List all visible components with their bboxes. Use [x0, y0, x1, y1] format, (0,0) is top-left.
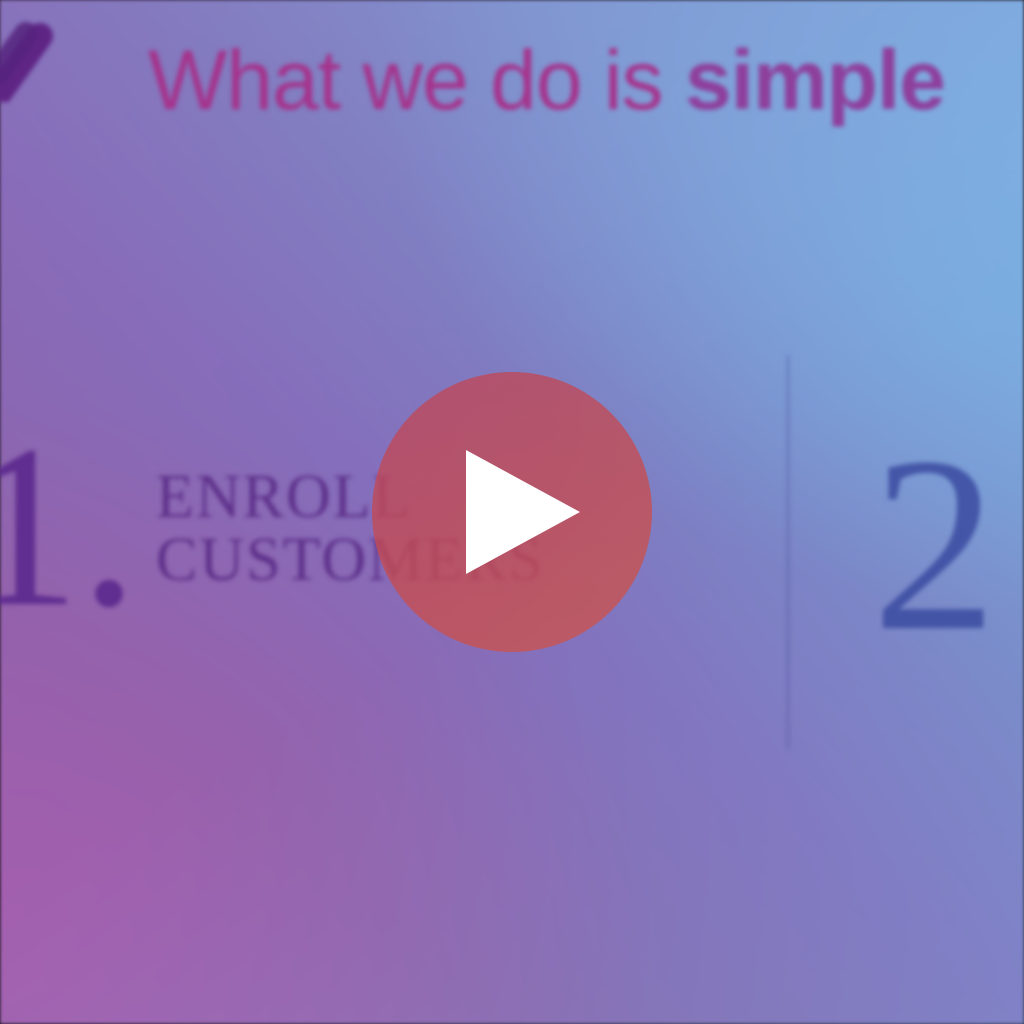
- headline-light-text: What we do is: [148, 33, 685, 127]
- step-1-number: 1.: [0, 430, 138, 625]
- step-2-number: 2: [872, 440, 997, 650]
- brand-logo: TER.: [0, 22, 82, 126]
- play-triangle-icon: [466, 450, 580, 574]
- page-title: What we do is simple: [148, 36, 945, 125]
- headline-bold-text: simple: [685, 33, 945, 127]
- v-checkmark-logo-icon: [0, 22, 74, 102]
- video-player-stage: TER. What we do is simple 1. ENROLL CUST…: [0, 0, 1024, 1024]
- steps-divider: [787, 355, 789, 749]
- play-button[interactable]: [372, 372, 652, 652]
- step-item-2: 2: [872, 440, 997, 650]
